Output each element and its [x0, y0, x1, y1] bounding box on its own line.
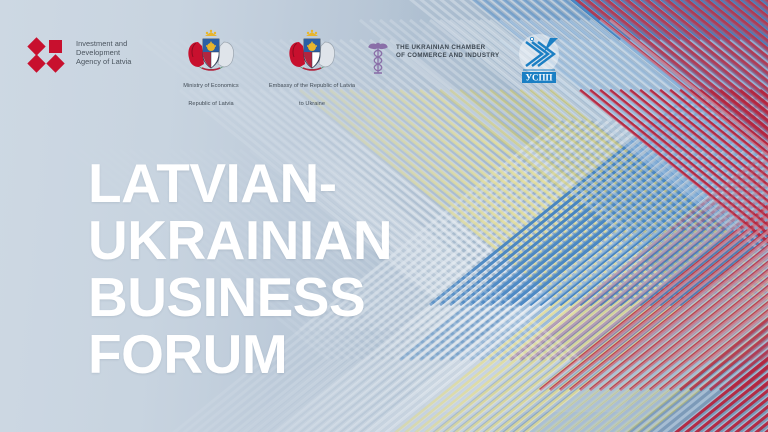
logo-label-embassy: Embassy of the Republic of Latvia to Ukr…	[269, 83, 355, 107]
caduceus-icon	[366, 42, 390, 76]
latvian-coat-of-arms-icon	[182, 28, 240, 74]
banner-slide: Investment and Development Agency of Lat…	[0, 0, 768, 432]
uspp-wordmark: УСПП	[525, 73, 552, 83]
logo-ministry-of-economics-republic-of-latvia: Ministry of Economics Republic of Latvia	[172, 28, 250, 110]
latvian-coat-of-arms-icon	[283, 28, 341, 74]
partner-logo-strip: Investment and Development Agency of Lat…	[0, 0, 768, 120]
logo-ukrainian-chamber-of-commerce-and-industry: THE UKRAINIAN CHAMBER OF COMMERCE AND IN…	[366, 42, 500, 76]
logo-investment-and-development-agency-of-latvia: Investment and Development Agency of Lat…	[30, 38, 131, 72]
logo-embassy-of-the-republic-of-latvia-to-ukraine: Embassy of the Republic of Latvia to Ukr…	[258, 28, 366, 110]
four-diamond-mark-icon	[30, 38, 68, 72]
page-title: LATVIAN- UKRAINIAN BUSINESS FORUM	[88, 155, 392, 383]
logo-label-ucci: THE UKRAINIAN CHAMBER OF COMMERCE AND IN…	[396, 42, 500, 60]
uspp-chevron-mark-icon: УСПП	[510, 28, 568, 86]
logo-label-liaa: Investment and Development Agency of Lat…	[76, 38, 131, 67]
logo-label-ministry-of-economics: Ministry of Economics Republic of Latvia	[183, 83, 238, 107]
logo-ukrainian-union-of-industrialists-and-entrepreneurs: УСПП	[508, 28, 570, 86]
